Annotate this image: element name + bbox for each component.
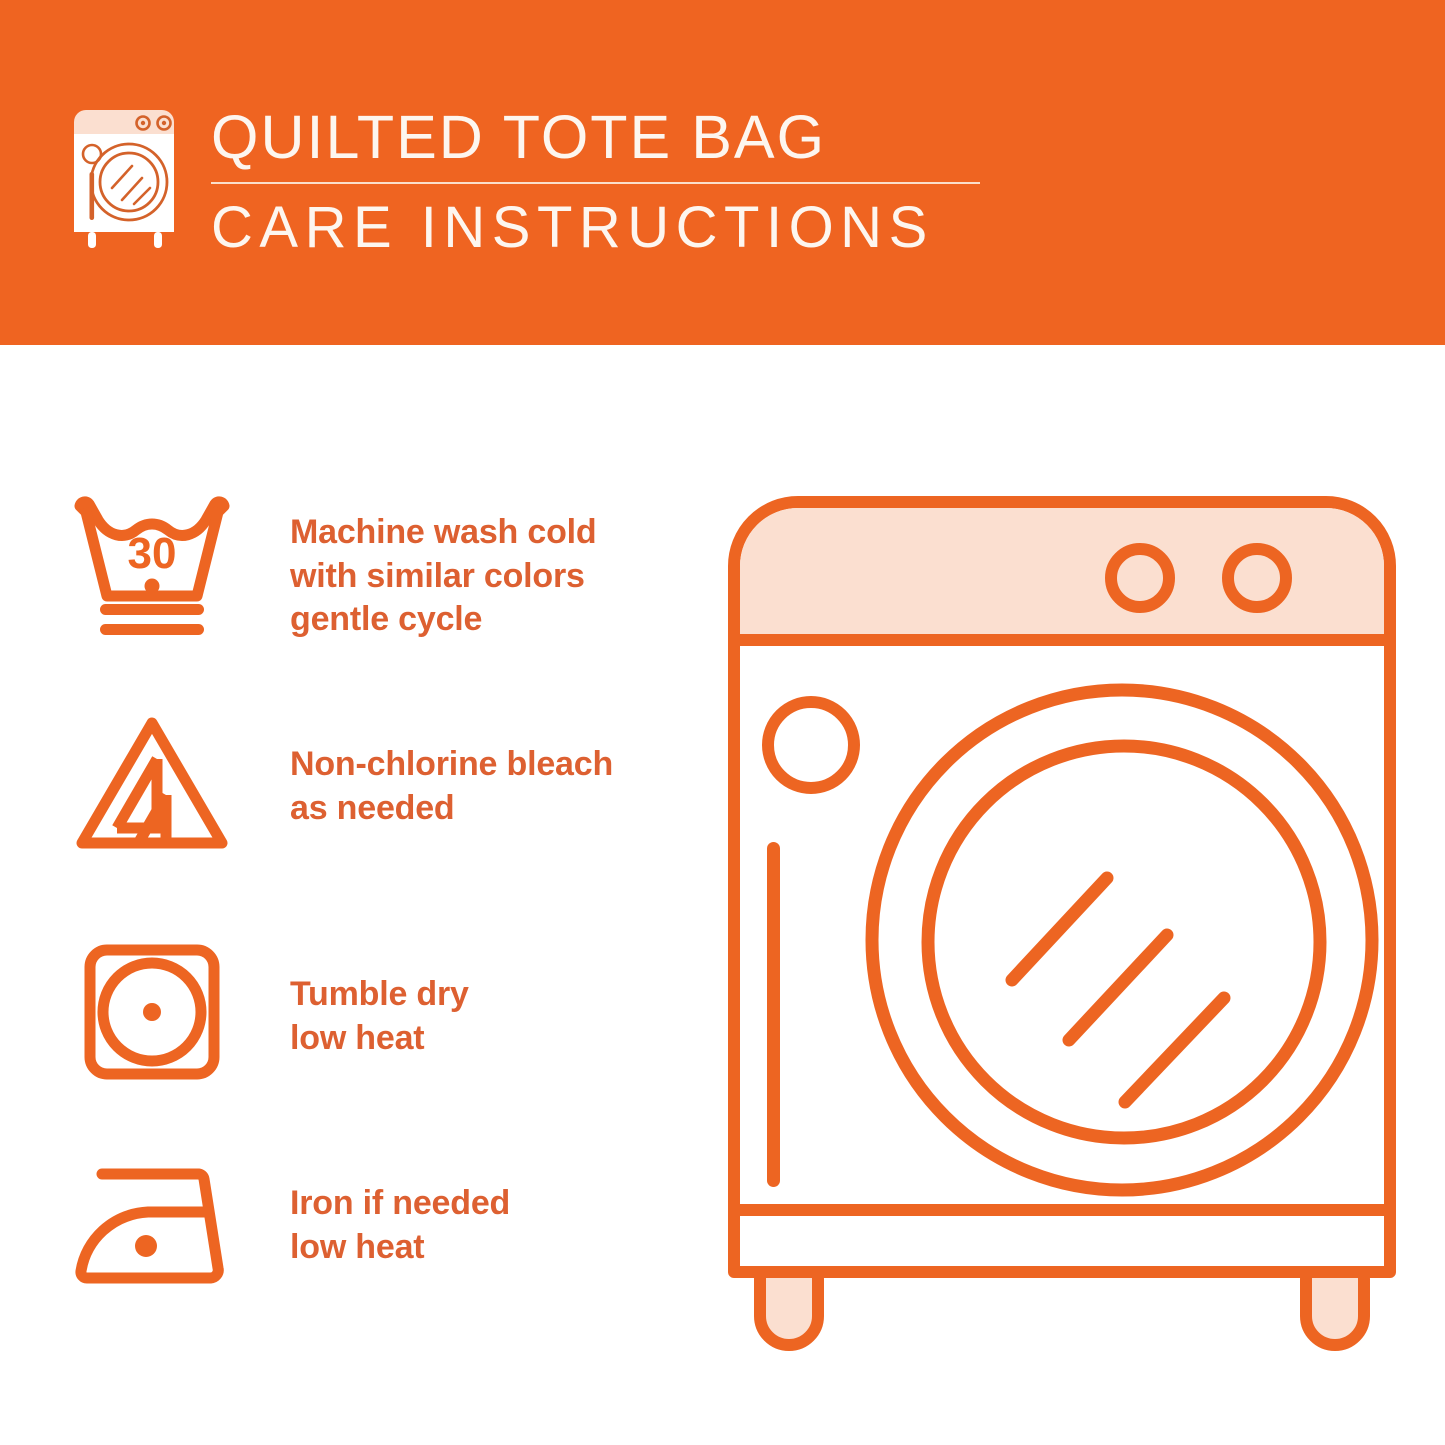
- iron-low-heat-icon: [70, 1162, 235, 1297]
- care-line: Iron if needed: [290, 1182, 510, 1226]
- care-line: Machine wash cold: [290, 511, 596, 555]
- page-subtitle: CARE INSTRUCTIONS: [211, 194, 981, 262]
- care-line: Non-chlorine bleach: [290, 743, 613, 787]
- detergent-bar: [767, 842, 780, 1187]
- knob-left: [1111, 549, 1169, 607]
- non-chlorine-bleach-triangle-icon: [74, 711, 234, 861]
- care-text-iron: Iron if needed low heat: [290, 1182, 510, 1269]
- care-text-bleach: Non-chlorine bleach as needed: [290, 743, 613, 830]
- title-divider: [211, 182, 980, 184]
- tumble-dry-low-icon: [82, 942, 222, 1087]
- washing-machine-illustration: [712, 480, 1412, 1370]
- care-text-wash: Machine wash cold with similar colors ge…: [290, 511, 596, 642]
- care-line: Tumble dry: [290, 973, 469, 1017]
- care-line: as needed: [290, 787, 613, 831]
- care-line: low heat: [290, 1017, 469, 1061]
- washing-machine-icon: [66, 104, 184, 254]
- wash-tub-30-gentle-icon: 30: [72, 496, 232, 646]
- wash-temp-label: 30: [128, 529, 177, 578]
- page-title: QUILTED TOTE BAG: [211, 101, 981, 173]
- care-line: low heat: [290, 1226, 510, 1270]
- care-line: gentle cycle: [290, 598, 596, 642]
- care-line: with similar colors: [290, 555, 596, 599]
- care-instructions-infographic: QUILTED TOTE BAG CARE INSTRUCTIONS 30: [0, 0, 1445, 1445]
- header-banner: QUILTED TOTE BAG CARE INSTRUCTIONS: [0, 0, 1445, 345]
- header-title-block: QUILTED TOTE BAG CARE INSTRUCTIONS: [211, 101, 981, 262]
- knob-right: [1228, 549, 1286, 607]
- care-text-dry: Tumble dry low heat: [290, 973, 469, 1060]
